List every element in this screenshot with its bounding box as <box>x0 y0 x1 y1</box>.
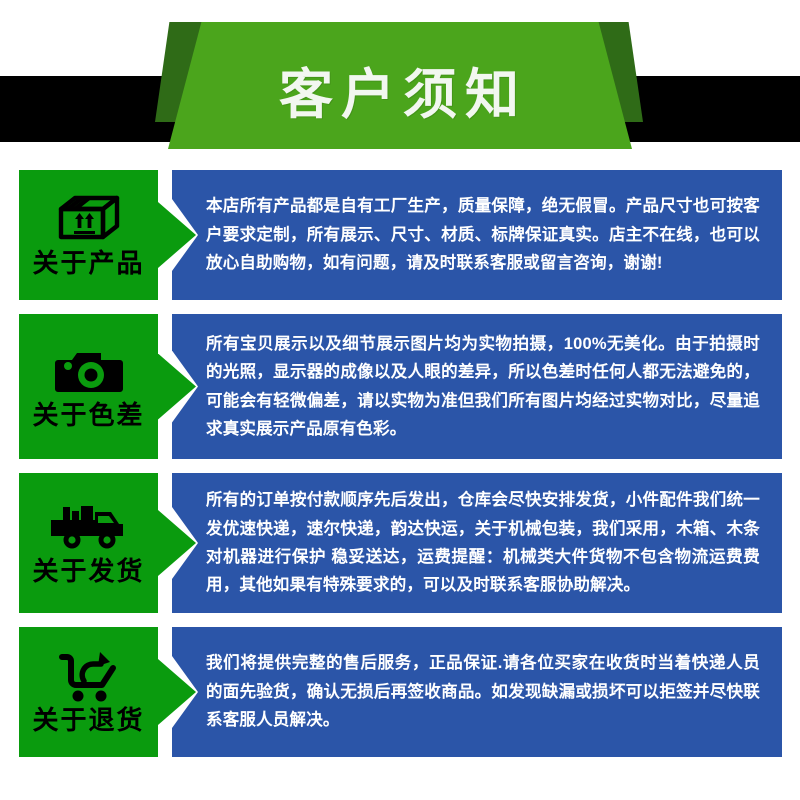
page-title: 客户须知 <box>279 50 527 129</box>
icon-card-shipping[interactable]: 关于发货 <box>19 473 158 613</box>
notice-text: 本店所有产品都是自有工厂生产，质量保障，绝无假冒。产品尺寸也可按客户要求定制，所… <box>172 192 782 277</box>
header-ribbon: 客户须知 <box>168 22 632 149</box>
card-label: 关于色差 <box>32 402 144 428</box>
notice-sections: 关于产品 本店所有产品都是自有工厂生产，质量保障，绝无假冒。产品尺寸也可按客户要… <box>0 170 800 771</box>
notice-text: 我们将提供完整的售后服务，正品保证.请各位买家在收货时当着快递人员的面先验货，确… <box>172 649 782 734</box>
text-panel-shipping: 所有的订单按付款顺序先后发出，仓库会尽快安排发货，小件配件我们统一发优速快递，速… <box>172 473 782 613</box>
text-panel-product: 本店所有产品都是自有工厂生产，质量保障，绝无假冒。产品尺寸也可按客户要求定制，所… <box>172 170 782 300</box>
icon-card-product[interactable]: 关于产品 <box>19 170 158 300</box>
icon-card-returns[interactable]: 关于退货 <box>19 627 158 757</box>
notice-row: 关于退货 我们将提供完整的售后服务，正品保证.请各位买家在收货时当着快递人员的面… <box>0 627 800 757</box>
card-label: 关于退货 <box>32 707 144 733</box>
icon-card-color[interactable]: 关于色差 <box>19 314 158 459</box>
notice-text: 所有宝贝展示以及细节展示图片均为实物拍摄，100%无美化。由于拍摄时的光照，显示… <box>172 330 782 444</box>
card-label: 关于发货 <box>32 558 144 584</box>
text-panel-returns: 我们将提供完整的售后服务，正品保证.请各位买家在收货时当着快递人员的面先验货，确… <box>172 627 782 757</box>
text-panel-color: 所有宝贝展示以及细节展示图片均为实物拍摄，100%无美化。由于拍摄时的光照，显示… <box>172 314 782 459</box>
camera-icon <box>50 342 128 400</box>
notice-row: 关于色差 所有宝贝展示以及细节展示图片均为实物拍摄，100%无美化。由于拍摄时的… <box>0 314 800 459</box>
package-box-icon <box>50 190 128 248</box>
page-header: 客户须知 <box>0 0 800 170</box>
return-cart-icon <box>50 647 128 705</box>
notice-row: 关于产品 本店所有产品都是自有工厂生产，质量保障，绝无假冒。产品尺寸也可按客户要… <box>0 170 800 300</box>
notice-text: 所有的订单按付款顺序先后发出，仓库会尽快安排发货，小件配件我们统一发优速快递，速… <box>172 486 782 600</box>
delivery-truck-icon <box>50 498 128 556</box>
card-label: 关于产品 <box>32 250 144 276</box>
notice-row: 关于发货 所有的订单按付款顺序先后发出，仓库会尽快安排发货，小件配件我们统一发优… <box>0 473 800 613</box>
